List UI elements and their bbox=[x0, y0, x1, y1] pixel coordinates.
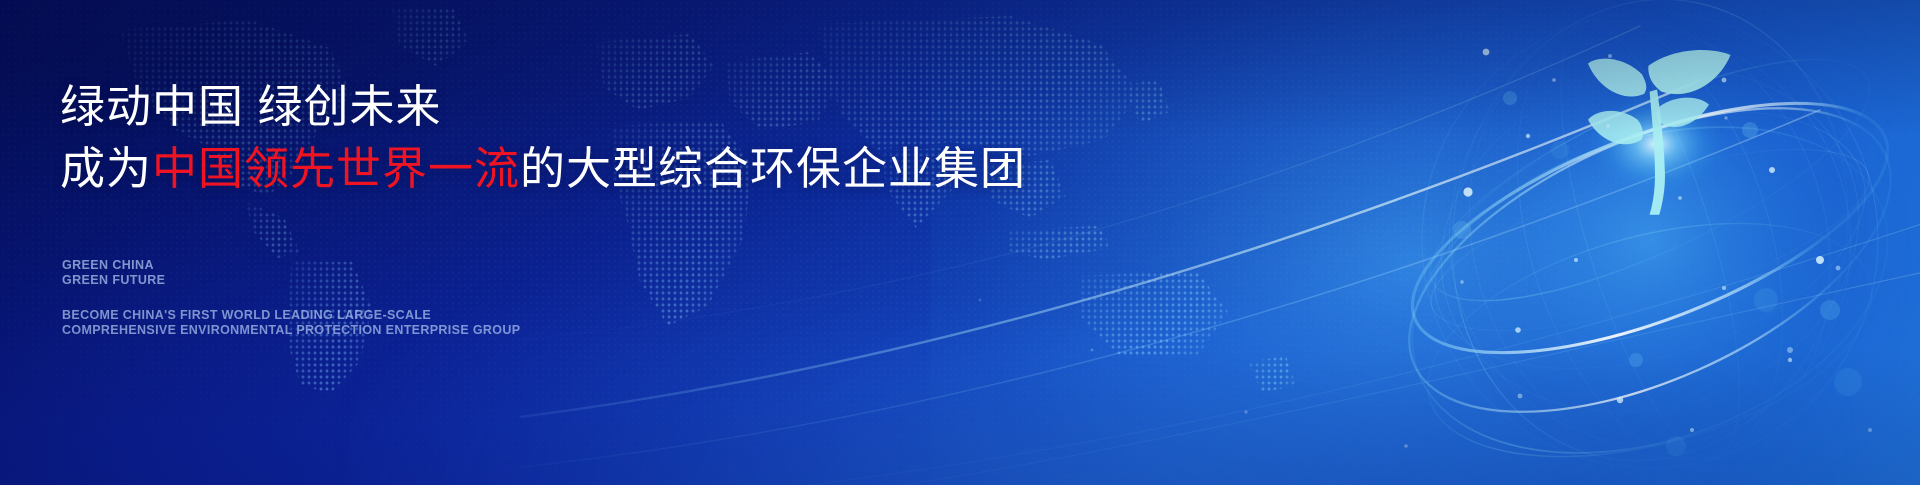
headline: 绿动中国 绿创未来 成为中国领先世界一流的大型综合环保企业集团 bbox=[60, 76, 1040, 200]
hero-banner: 绿动中国 绿创未来 成为中国领先世界一流的大型综合环保企业集团 GREEN CH… bbox=[0, 0, 1920, 485]
subtitle-line-2: COMPREHENSIVE ENVIRONMENTAL PROTECTION E… bbox=[62, 323, 520, 338]
headline-line-2-prefix: 成为 bbox=[60, 143, 152, 194]
subtitle-english: BECOME CHINA'S FIRST WORLD LEADING LARGE… bbox=[62, 308, 520, 338]
tagline-line-1: GREEN CHINA bbox=[62, 258, 165, 273]
subtitle-line-1: BECOME CHINA'S FIRST WORLD LEADING LARGE… bbox=[62, 308, 520, 323]
headline-line-1: 绿动中国 绿创未来 bbox=[60, 81, 442, 132]
banner-content: 绿动中国 绿创未来 成为中国领先世界一流的大型综合环保企业集团 GREEN CH… bbox=[60, 0, 1060, 485]
headline-line-2-suffix: 的大型综合环保企业集团 bbox=[520, 143, 1026, 194]
headline-line-2: 成为中国领先世界一流的大型综合环保企业集团 bbox=[60, 138, 1040, 200]
tagline-line-2: GREEN FUTURE bbox=[62, 273, 165, 288]
tagline-english: GREEN CHINA GREEN FUTURE bbox=[62, 258, 165, 288]
headline-line-2-highlight: 中国领先世界一流 bbox=[152, 143, 520, 194]
